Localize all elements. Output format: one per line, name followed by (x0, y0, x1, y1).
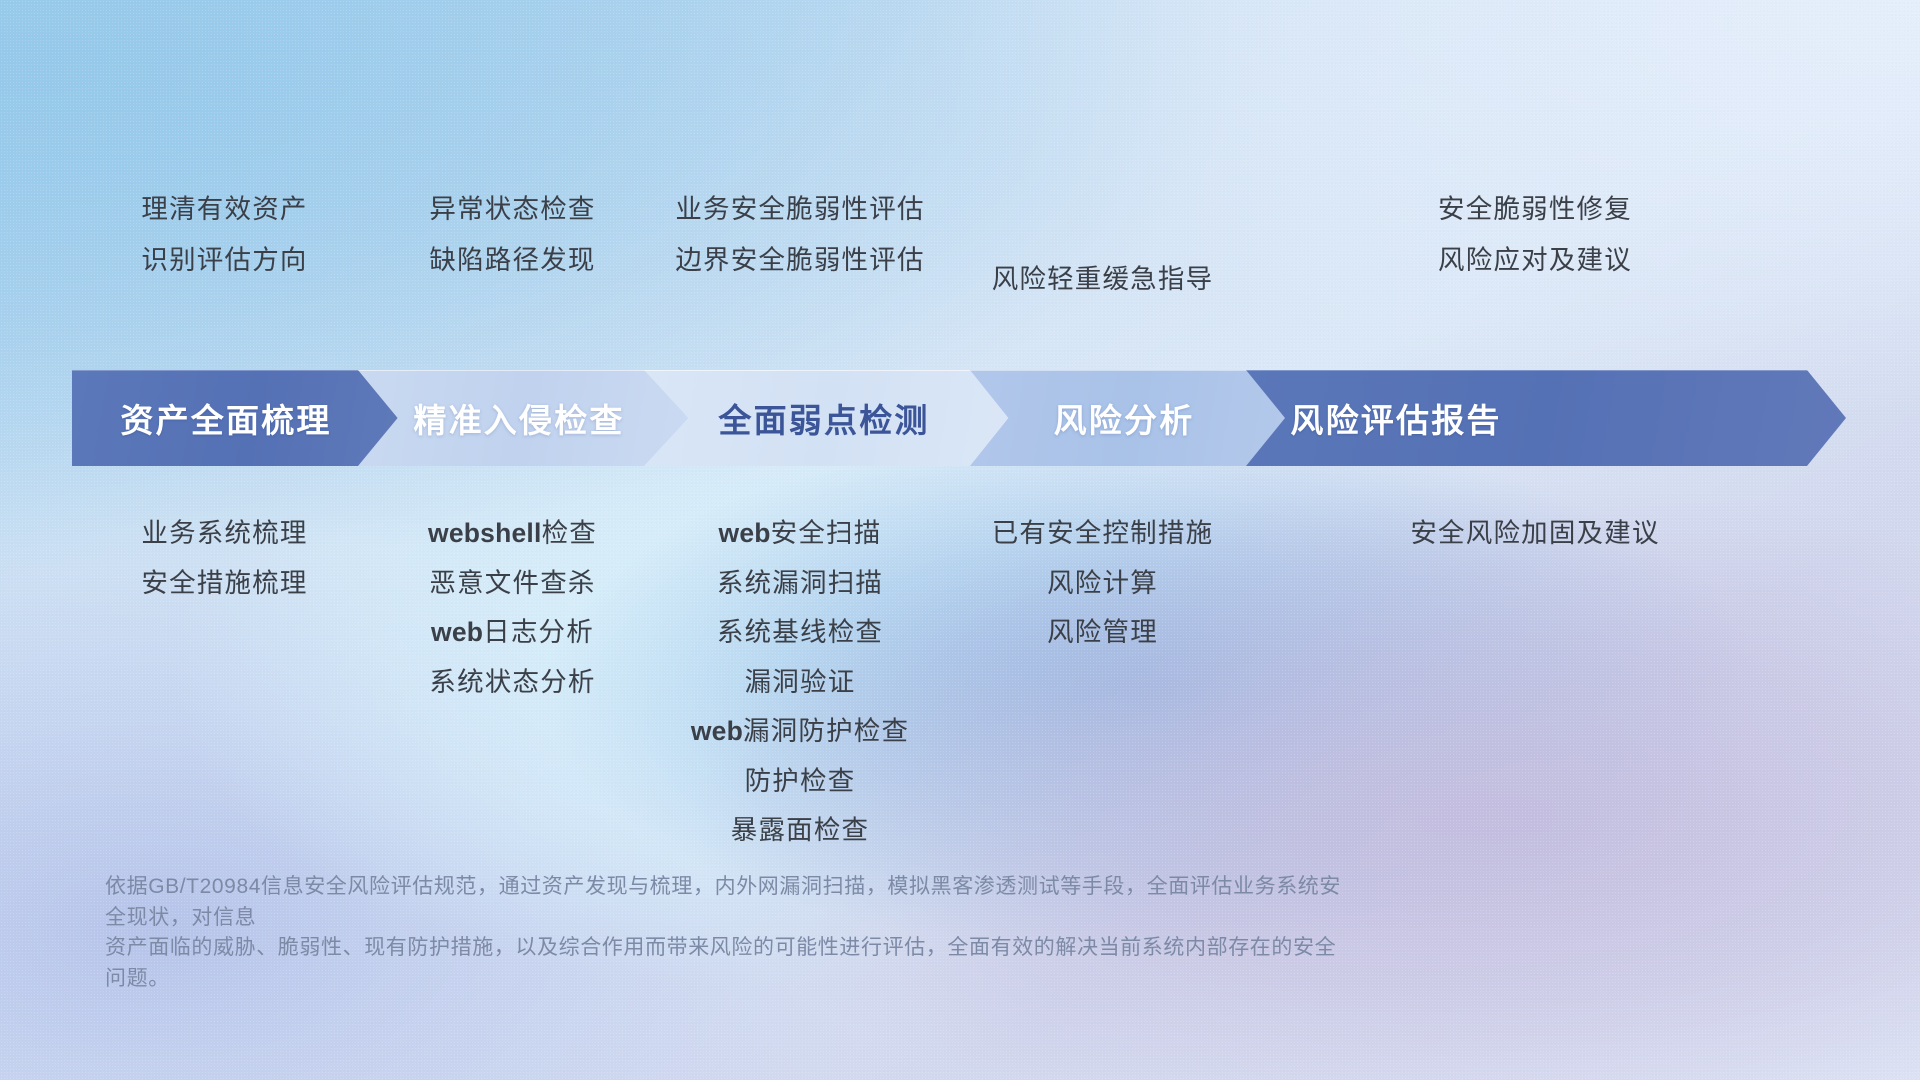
chevron-stage-weakness-detection[interactable]: 全面弱点检测 (644, 370, 1014, 466)
stage-5-items: 安全风险加固及建议 (1375, 520, 1695, 547)
stage-3-top-labels: 业务安全脆弱性评估 边界安全脆弱性评估 (640, 196, 960, 273)
list-item: 恶意文件查杀 (360, 570, 665, 597)
list-item-bold: web (691, 716, 743, 746)
stage-5-top-labels: 安全脆弱性修复 风险应对及建议 (1375, 196, 1695, 273)
list-item: 风险管理 (950, 619, 1255, 646)
list-item: web日志分析 (360, 619, 665, 646)
list-item: 漏洞验证 (640, 669, 960, 696)
list-item: 安全措施梳理 (72, 570, 377, 597)
list-item: 业务系统梳理 (72, 520, 377, 547)
list-item: 系统基线检查 (640, 619, 960, 646)
chevron-stage-risk-report[interactable]: 风险评估报告 (1246, 370, 1846, 466)
chevron-label: 风险分析 (1054, 394, 1195, 442)
list-item: 系统状态分析 (360, 669, 665, 696)
footer-description: 依据GB/T20984信息安全风险评估规范，通过资产发现与梳理，内外网漏洞扫描，… (105, 872, 1355, 995)
chevron-label: 精准入侵检查 (413, 394, 624, 442)
top-label: 识别评估方向 (72, 247, 377, 274)
chevron-label: 风险评估报告 (1290, 394, 1501, 442)
footer-line-1: 依据GB/T20984信息安全风险评估规范，通过资产发现与梳理，内外网漏洞扫描，… (105, 872, 1355, 933)
stage-2-items: webshell检查 恶意文件查杀 web日志分析 系统状态分析 (360, 520, 665, 695)
chevron-stage-risk-analysis[interactable]: 风险分析 (970, 370, 1290, 466)
list-item-bold: web (431, 617, 483, 647)
list-item-bold: web (719, 518, 771, 548)
stage-4-items: 已有安全控制措施 风险计算 风险管理 (950, 520, 1255, 646)
list-item: 安全风险加固及建议 (1375, 520, 1695, 547)
stage-2-top-labels: 异常状态检查 缺陷路径发现 (360, 196, 665, 273)
stage-3-items: web安全扫描 系统漏洞扫描 系统基线检查 漏洞验证 web漏洞防护检查 防护检… (640, 520, 960, 844)
list-item-bold: webshell (428, 518, 542, 548)
chevron-label: 全面弱点检测 (718, 394, 929, 442)
top-label: 边界安全脆弱性评估 (640, 247, 960, 274)
stage-4-top-labels: 风险轻重缓急指导 (950, 266, 1255, 293)
chevron-stage-asset-inventory[interactable]: 资产全面梳理 (72, 370, 402, 466)
list-item: web安全扫描 (640, 520, 960, 547)
stage-1-top-labels: 理清有效资产 识别评估方向 (72, 196, 377, 273)
top-label: 缺陷路径发现 (360, 247, 665, 274)
footer-line-2: 资产面临的威胁、脆弱性、现有防护措施，以及综合作用而带来风险的可能性进行评估，全… (105, 933, 1355, 994)
list-item: 系统漏洞扫描 (640, 570, 960, 597)
list-item-label: 日志分析 (483, 617, 594, 647)
top-label: 理清有效资产 (72, 196, 377, 223)
stage-1-items: 业务系统梳理 安全措施梳理 (72, 520, 377, 596)
chevron-label: 资产全面梳理 (120, 394, 331, 442)
list-item: 暴露面检查 (640, 817, 960, 844)
list-item: 风险计算 (950, 570, 1255, 597)
list-item: webshell检查 (360, 520, 665, 547)
process-chevron-band: 资产全面梳理 精准入侵检查 全面弱点检测 风险分析 风险评估报告 (0, 370, 1920, 466)
top-label: 风险应对及建议 (1375, 247, 1695, 274)
top-label: 安全脆弱性修复 (1375, 196, 1695, 223)
top-label: 异常状态检查 (360, 196, 665, 223)
chevron-stage-intrusion-check[interactable]: 精准入侵检查 (358, 370, 688, 466)
top-label: 业务安全脆弱性评估 (640, 196, 960, 223)
list-item: 防护检查 (640, 768, 960, 795)
list-item-label: 检查 (542, 518, 597, 548)
list-item: web漏洞防护检查 (640, 718, 960, 745)
top-label: 风险轻重缓急指导 (950, 266, 1255, 293)
list-item-label: 漏洞防护检查 (743, 716, 909, 746)
list-item: 已有安全控制措施 (950, 520, 1255, 547)
list-item-label: 安全扫描 (771, 518, 882, 548)
